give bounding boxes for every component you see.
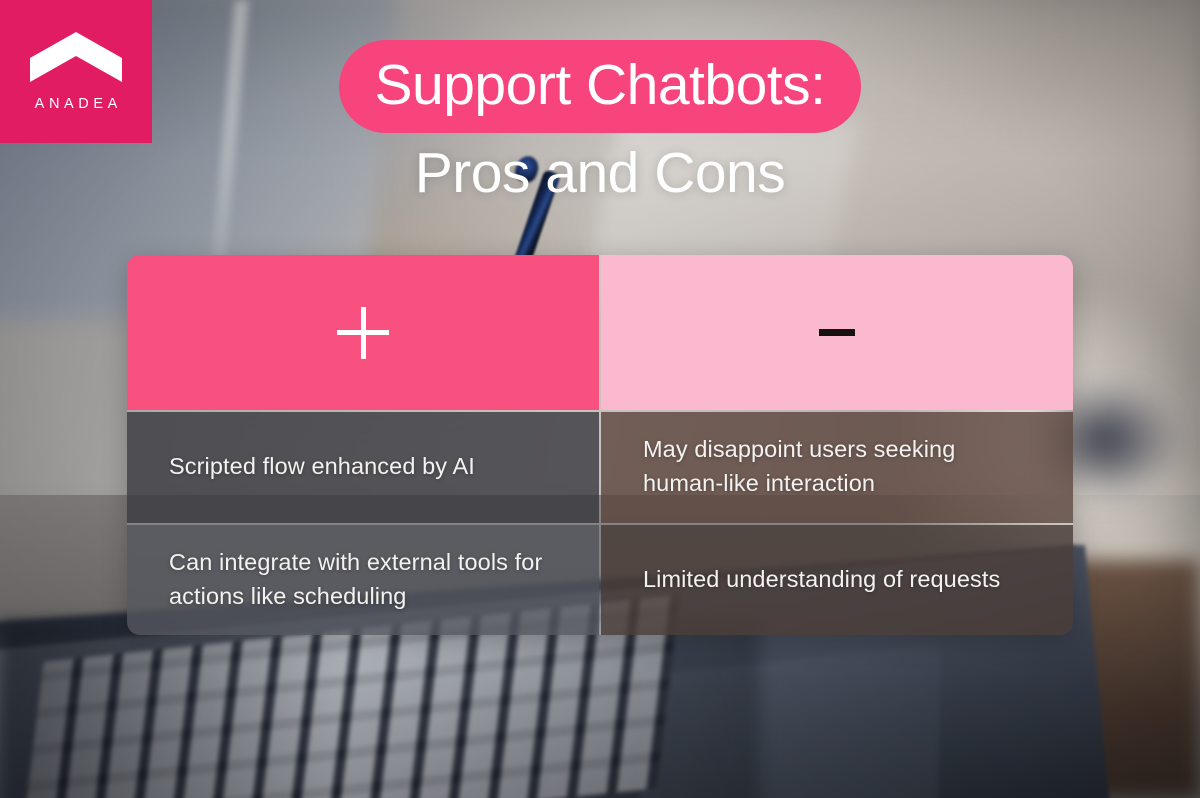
page-title: Support Chatbots: Pros and Cons [0,40,1200,202]
table-header-pros [127,255,599,410]
pros-cons-table: Scripted flow enhanced by AI May disappo… [127,255,1073,635]
title-line-2: Pros and Cons [0,145,1200,202]
table-row: Scripted flow enhanced by AI May disappo… [127,412,1073,523]
con-cell: Limited understanding of requests [601,525,1073,636]
table-row: Can integrate with external tools for ac… [127,525,1073,636]
title-line-1: Support Chatbots: [339,40,862,133]
pro-cell: Can integrate with external tools for ac… [127,525,599,636]
brand-name: ANADEA [30,96,122,112]
brand-logo: ANADEA [0,0,152,143]
chevron-roof-icon [30,32,122,82]
table-header-cons [601,255,1073,410]
table-header-row [127,255,1073,410]
pro-cell: Scripted flow enhanced by AI [127,412,599,523]
plus-icon [337,307,389,359]
poster-canvas: ANADEA Support Chatbots: Pros and Cons S… [0,0,1200,798]
con-cell: May disappoint users seeking human-like … [601,412,1073,523]
minus-icon [819,329,855,336]
